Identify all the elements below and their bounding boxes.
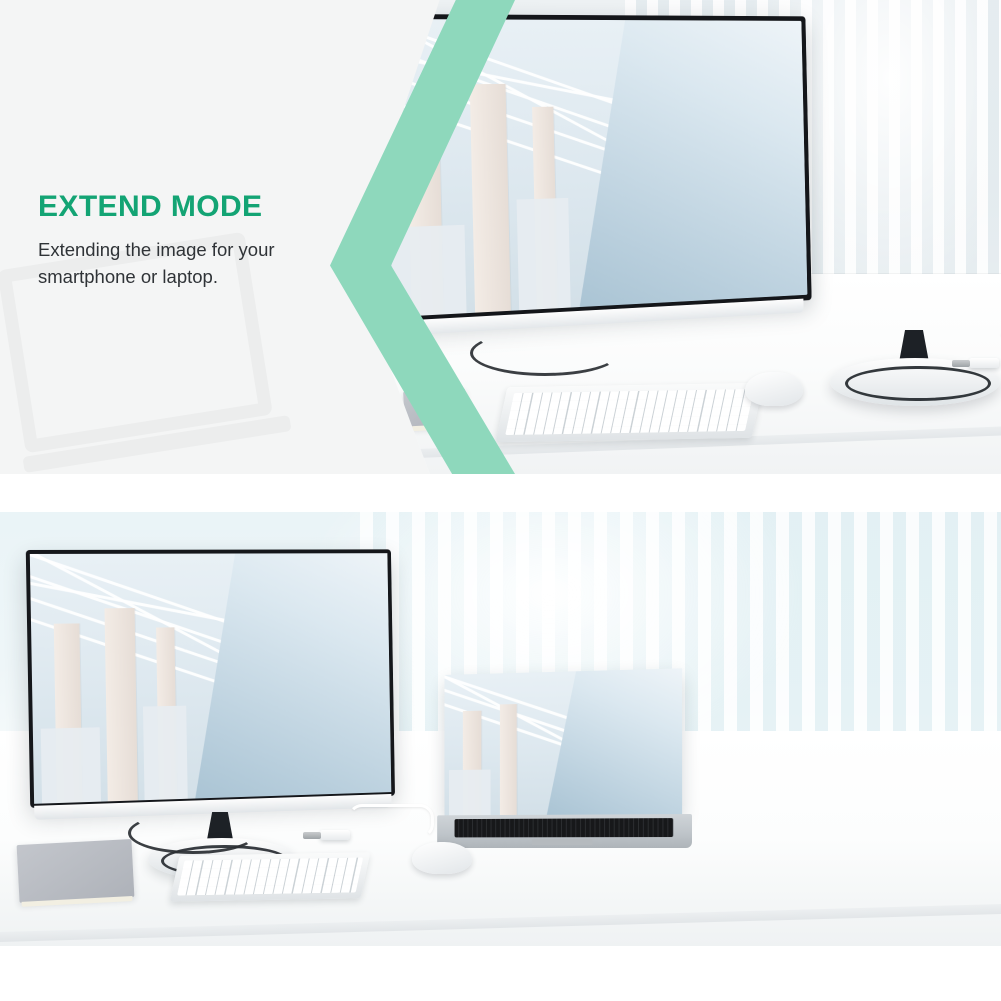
keyboard-keys: [177, 857, 364, 896]
photo-scene: [453, 678, 674, 807]
desk-edge: [0, 904, 1001, 942]
monitor-cable: [128, 812, 258, 854]
photo-scene: [30, 553, 392, 804]
extend-mode-description: Extending the image for your smartphone …: [38, 237, 338, 291]
laptop-keyboard: [454, 818, 673, 837]
adapter-plug: [952, 360, 970, 367]
scene-pillar: [470, 84, 511, 313]
external-monitor: [26, 549, 395, 808]
scene-building: [517, 198, 571, 310]
product-feature-image: 2013 SATIS RAPORU AlanAdlari.com: [0, 0, 1001, 1001]
monitor-bezel: [26, 549, 395, 808]
monitor-screen: [30, 553, 392, 804]
extend-mode-title: EXTEND MODE: [38, 190, 338, 223]
panel-extend-mode: 2013 SATIS RAPORU AlanAdlari.com: [0, 0, 1001, 474]
laptop-lid: [444, 668, 682, 815]
keyboard-keys: [505, 388, 755, 435]
scene-pillar: [500, 704, 516, 806]
usb-c-adapter: [320, 830, 350, 840]
scene-building: [453, 770, 491, 807]
wireless-mouse: [412, 842, 472, 874]
laptop-trackpad: [532, 839, 593, 845]
notebook: [17, 839, 135, 903]
scene-pillar: [105, 608, 138, 801]
monitor-cable: [470, 330, 620, 376]
panel-mirror-mode: MIRROR MODE Mapping your laptop to the l…: [0, 512, 1001, 946]
laptop-screen: [453, 678, 674, 807]
watermark-base: [22, 415, 291, 473]
adapter-cable: [348, 804, 434, 838]
extend-text-block: EXTEND MODE Extending the image for your…: [38, 190, 338, 291]
adapter-plug: [303, 832, 321, 839]
wireless-keyboard: [170, 852, 371, 901]
laptop-deck: [437, 814, 692, 848]
usb-c-adapter: [969, 358, 999, 368]
wireless-keyboard: [496, 383, 764, 442]
wireless-mouse: [745, 372, 803, 406]
scene-building: [143, 706, 188, 801]
scene-building: [40, 727, 101, 803]
laptop: [437, 668, 692, 848]
